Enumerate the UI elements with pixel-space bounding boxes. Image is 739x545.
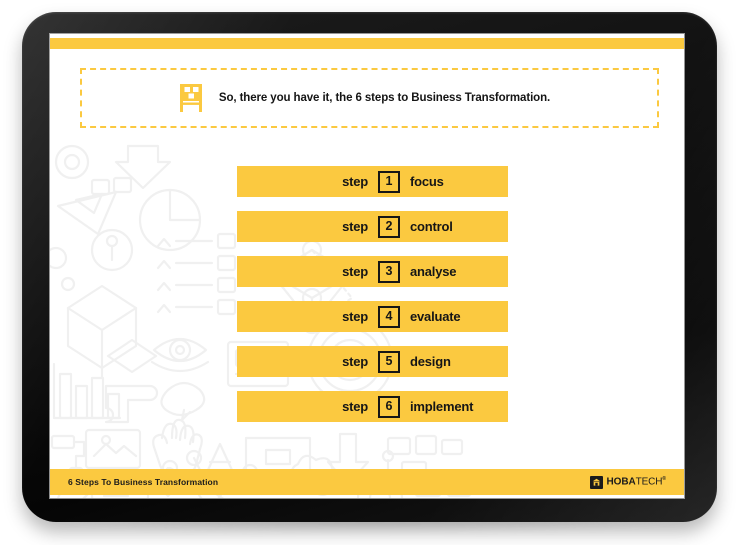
step-word-label: step	[342, 219, 368, 234]
step-number-box: 3	[378, 261, 400, 283]
step-number-box: 1	[378, 171, 400, 193]
logo-wordmark-light: TECH	[636, 477, 663, 488]
steps-list: step 1 focus step 2 control step 3 analy…	[237, 166, 508, 422]
screenshot-root: So, there you have it, the 6 steps to Bu…	[0, 0, 739, 545]
step-word-label: step	[342, 174, 368, 189]
step-row[interactable]: step 6 implement	[237, 391, 508, 422]
slide-top-accent-bar	[50, 38, 684, 49]
headline-callout-box: So, there you have it, the 6 steps to Bu…	[80, 68, 659, 128]
hobatech-logo: HOBATECH®	[590, 476, 666, 489]
step-row[interactable]: step 4 evaluate	[237, 301, 508, 332]
step-name-label: analyse	[410, 264, 498, 279]
step-row[interactable]: step 2 control	[237, 211, 508, 242]
callout-content: So, there you have it, the 6 steps to Bu…	[177, 83, 550, 113]
step-number-box: 2	[378, 216, 400, 238]
logo-wordmark: HOBATECH®	[607, 476, 666, 487]
slide-footer: 6 Steps To Business Transformation HOBAT…	[50, 469, 684, 495]
logo-trademark: ®	[662, 476, 666, 482]
step-name-label: design	[410, 354, 498, 369]
step-number-box: 5	[378, 351, 400, 373]
step-word-label: step	[342, 354, 368, 369]
step-number-box: 6	[378, 396, 400, 418]
step-word-label: step	[342, 309, 368, 324]
step-row[interactable]: step 3 analyse	[237, 256, 508, 287]
tablet-screen: So, there you have it, the 6 steps to Bu…	[50, 34, 684, 498]
building-icon	[590, 476, 603, 489]
step-name-label: focus	[410, 174, 498, 189]
step-name-label: evaluate	[410, 309, 498, 324]
footer-title: 6 Steps To Business Transformation	[68, 477, 218, 487]
presentation-slide: So, there you have it, the 6 steps to Bu…	[50, 34, 684, 498]
step-number-box: 4	[378, 306, 400, 328]
step-word-label: step	[342, 399, 368, 414]
step-row[interactable]: step 1 focus	[237, 166, 508, 197]
callout-text: So, there you have it, the 6 steps to Bu…	[219, 92, 550, 104]
step-name-label: implement	[410, 399, 498, 414]
step-word-label: step	[342, 264, 368, 279]
logo-wordmark-bold: HOBA	[607, 477, 636, 488]
step-row[interactable]: step 5 design	[237, 346, 508, 377]
step-name-label: control	[410, 219, 498, 234]
checkered-flag-icon	[177, 83, 205, 113]
